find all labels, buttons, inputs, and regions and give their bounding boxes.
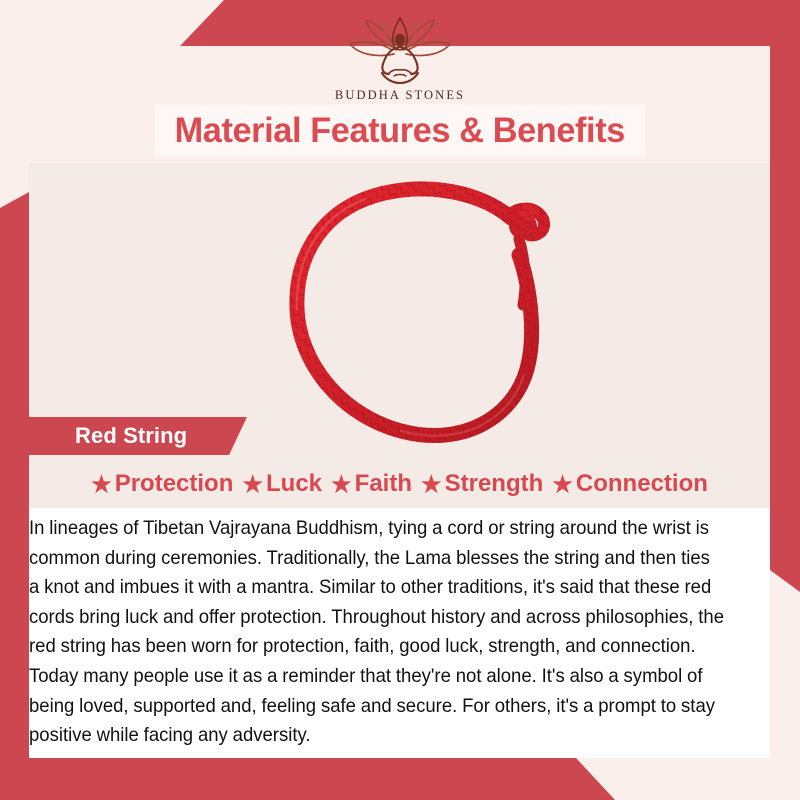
page-title: Material Features & Benefits xyxy=(175,111,625,151)
decor-left-red-band xyxy=(0,192,29,800)
brand-logo: BUDDHA STONES xyxy=(0,14,800,103)
benefit-label: Protection xyxy=(115,470,234,498)
star-icon: ★ xyxy=(421,473,442,496)
benefit-item-luck: ★ Luck xyxy=(242,470,322,498)
benefit-item-faith: ★ Faith xyxy=(331,470,412,498)
benefit-label: Faith xyxy=(355,470,412,498)
product-photo xyxy=(29,163,770,508)
brand-wordmark: BUDDHA STONES xyxy=(335,88,465,103)
star-icon: ★ xyxy=(91,473,112,496)
benefit-label: Luck xyxy=(266,470,322,498)
product-name-ribbon: Red String xyxy=(29,417,247,455)
title-plate: Material Features & Benefits xyxy=(155,105,645,157)
benefits-list: ★ Protection ★ Luck ★ Faith ★ Strength ★… xyxy=(29,462,770,506)
star-icon: ★ xyxy=(331,473,352,496)
red-string-bracelet-icon xyxy=(261,163,591,463)
benefit-label: Strength xyxy=(445,470,544,498)
star-icon: ★ xyxy=(242,473,263,496)
description-text: In lineages of Tibetan Vajrayana Buddhis… xyxy=(29,514,725,751)
infographic-page: BUDDHA STONES Material Features & Benefi… xyxy=(0,0,800,800)
benefit-item-strength: ★ Strength xyxy=(421,470,543,498)
benefit-item-connection: ★ Connection xyxy=(552,470,708,498)
product-name-label: Red String xyxy=(75,423,187,449)
star-icon: ★ xyxy=(552,473,573,496)
decor-bottom-red-band xyxy=(0,758,615,800)
benefit-label: Connection xyxy=(576,470,708,498)
lotus-meditating-figure-icon xyxy=(336,14,464,86)
description-panel: In lineages of Tibetan Vajrayana Buddhis… xyxy=(29,508,770,758)
benefit-item-protection: ★ Protection xyxy=(91,470,233,498)
